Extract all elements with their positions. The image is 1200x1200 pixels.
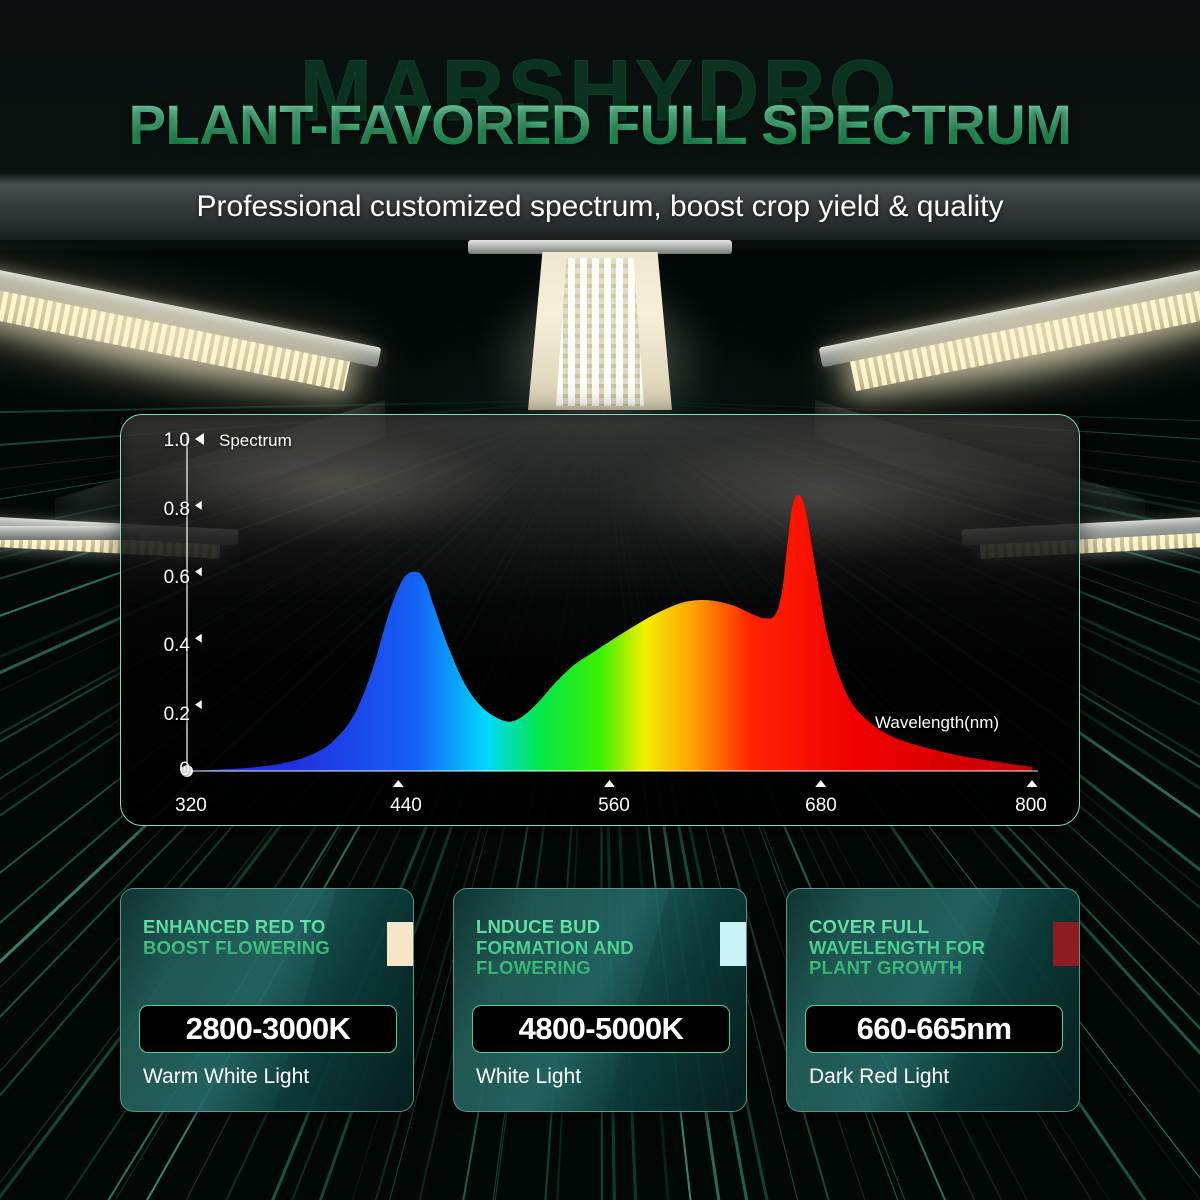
y-tick-label-1: 1.0: [150, 430, 190, 452]
x-tick-marker: [604, 780, 615, 787]
card-color-swatch: [387, 922, 413, 966]
x-tick-marker: [815, 780, 826, 787]
card-value-box: 4800-5000K: [472, 1005, 730, 1053]
y-tick-marker: [195, 433, 204, 445]
y-tick-label-0: 0: [150, 759, 190, 781]
page-title: PLANT-FAVORED FULL SPECTRUM: [0, 92, 1200, 157]
page-subtitle: Professional customized spectrum, boost …: [0, 190, 1200, 224]
card-value-box: 2800-3000K: [139, 1005, 397, 1053]
x-tick-label-800: 800: [1001, 795, 1061, 817]
y-tick-label-06: 0.6: [150, 567, 190, 589]
card-value: 660-665nm: [857, 1011, 1012, 1047]
spectrum-chart-svg: [121, 415, 1080, 826]
feature-card-warm-white[interactable]: ENHANCED RED TO BOOST FLOWERING 2800-300…: [120, 888, 414, 1112]
card-color-swatch: [1053, 922, 1079, 966]
x-tick-marker: [1027, 780, 1038, 787]
y-tick-marker: [195, 567, 202, 576]
x-tick-label-320: 320: [161, 795, 221, 817]
y-tick-marker: [195, 634, 202, 643]
card-value: 4800-5000K: [519, 1011, 684, 1047]
center-fixture-bracket: [468, 240, 732, 254]
x-tick-label-680: 680: [791, 795, 851, 817]
x-tick-label-440: 440: [376, 795, 436, 817]
feature-card-dark-red[interactable]: COVER FULL WAVELENGTH FOR PLANT GROWTH 6…: [786, 888, 1080, 1112]
center-led-fixture: [460, 240, 740, 410]
center-fixture-led-panel: [556, 258, 644, 406]
card-caption: Dark Red Light: [809, 1065, 949, 1089]
spectrum-legend-label: Spectrum: [219, 431, 292, 451]
y-tick-label-08: 0.8: [150, 499, 190, 521]
card-color-swatch: [720, 922, 746, 966]
card-caption: White Light: [476, 1065, 581, 1089]
y-tick-marker: [195, 501, 202, 510]
wavelength-axis-label: Wavelength(nm): [875, 713, 999, 733]
card-title: LNDUCE BUD FORMATION AND FLOWERING: [476, 917, 676, 979]
page-header: MARSHYDRO PLANT-FAVORED FULL SPECTRUM Pr…: [0, 0, 1200, 240]
card-value: 2800-3000K: [186, 1011, 351, 1047]
x-tick-marker: [393, 780, 404, 787]
y-tick-label-02: 0.2: [150, 704, 190, 726]
y-tick-marker: [195, 700, 202, 709]
card-title: ENHANCED RED TO BOOST FLOWERING: [143, 917, 343, 958]
feature-card-white[interactable]: LNDUCE BUD FORMATION AND FLOWERING 4800-…: [453, 888, 747, 1112]
card-caption: Warm White Light: [143, 1065, 309, 1089]
spectrum-chart-panel: [120, 414, 1080, 826]
card-title: COVER FULL WAVELENGTH FOR PLANT GROWTH: [809, 917, 1009, 979]
x-tick-label-560: 560: [584, 795, 644, 817]
feature-cards-row: ENHANCED RED TO BOOST FLOWERING 2800-300…: [0, 888, 1200, 1120]
card-value-box: 660-665nm: [805, 1005, 1063, 1053]
y-tick-label-04: 0.4: [150, 635, 190, 657]
